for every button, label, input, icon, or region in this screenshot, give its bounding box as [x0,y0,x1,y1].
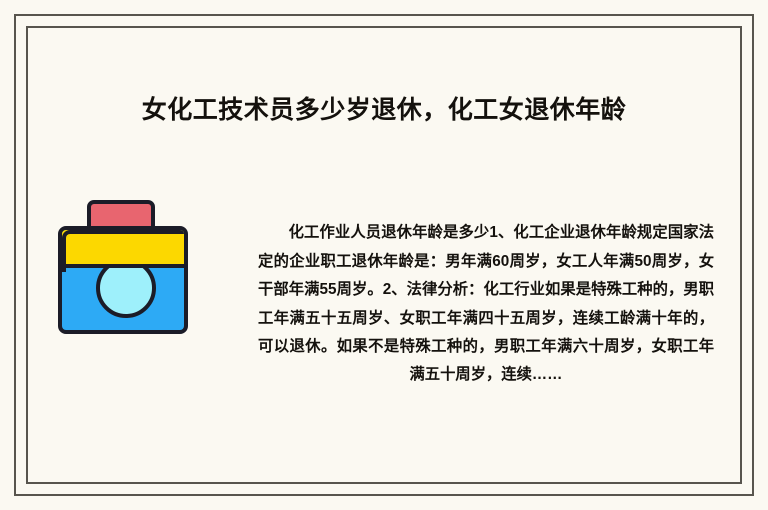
toolbox-body-icon [58,226,188,334]
toolbox-band-outline-icon [62,230,188,272]
page-canvas: 女化工技术员多少岁退休，化工女退休年龄 化工作业人员退休年龄是多少1、化工企业退… [0,0,768,510]
toolbox-icon [58,200,190,336]
article-body: 化工作业人员退休年龄是多少1、化工企业退休年龄规定国家法定的企业职工退休年龄是：… [258,219,714,389]
page-title: 女化工技术员多少岁退休，化工女退休年龄 [0,93,768,127]
